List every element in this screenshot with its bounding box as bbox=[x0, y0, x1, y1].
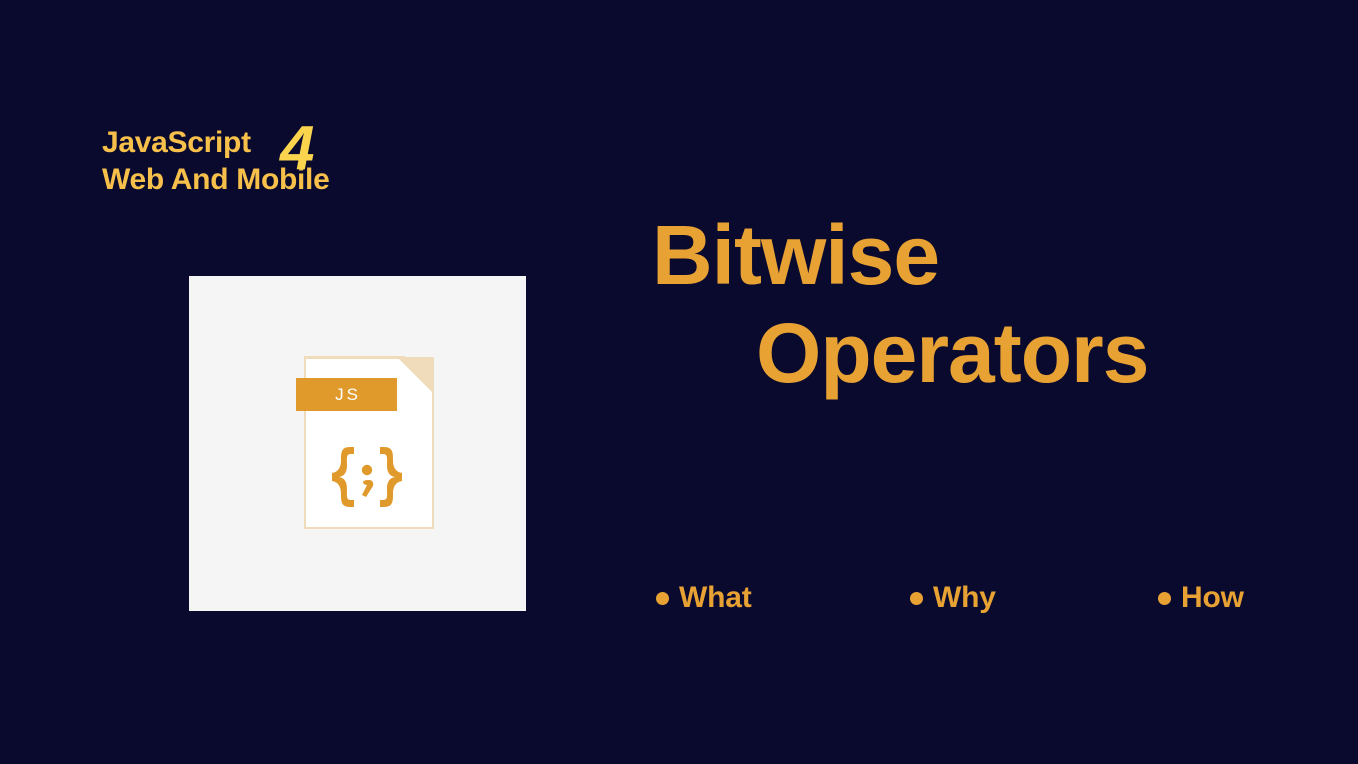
file-fold-cut bbox=[405, 356, 434, 357]
brand-logo: JavaScript Web And Mobile 4 bbox=[102, 124, 522, 210]
illustration-panel: JS bbox=[189, 276, 526, 611]
list-item-label: What bbox=[679, 581, 752, 615]
list-item: How bbox=[1158, 581, 1244, 615]
list-item: Why bbox=[910, 581, 996, 615]
brand-number-badge: 4 bbox=[280, 118, 314, 180]
list-item-label: Why bbox=[933, 581, 996, 615]
slide-canvas: JavaScript Web And Mobile 4 JS bbox=[0, 0, 1358, 764]
list-item: What bbox=[656, 581, 752, 615]
bullet-dot-icon bbox=[1158, 592, 1171, 605]
page-title: Bitwise Operators bbox=[652, 206, 1312, 402]
list-item-label: How bbox=[1181, 581, 1244, 615]
curly-braces-semicolon-icon bbox=[328, 444, 406, 510]
page-title-line-1: Bitwise bbox=[652, 206, 1312, 304]
bullet-dot-icon bbox=[910, 592, 923, 605]
javascript-file-icon: JS bbox=[296, 356, 434, 529]
file-page-top-edge bbox=[304, 356, 405, 359]
page-title-line-2: Operators bbox=[652, 304, 1312, 402]
file-type-tab: JS bbox=[296, 378, 397, 411]
bullet-dot-icon bbox=[656, 592, 669, 605]
file-type-label: JS bbox=[332, 385, 361, 405]
file-folded-corner-icon bbox=[396, 356, 434, 394]
topic-list: What Why How bbox=[656, 581, 1276, 621]
